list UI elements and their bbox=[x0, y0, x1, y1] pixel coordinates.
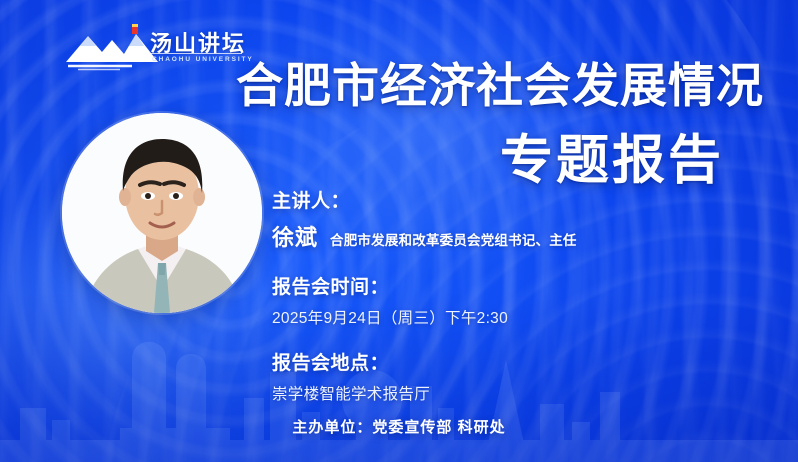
speaker-title: 合肥市发展和改革委员会党组书记、主任 bbox=[330, 229, 577, 249]
event-poster: 汤山讲坛 CHAOHU UNIVERSITY 合肥市经济社会发展情况 专题报告 bbox=[0, 0, 798, 462]
speaker-name: 徐斌 bbox=[272, 220, 318, 252]
poster-title-line-1: 合肥市经济社会发展情况 bbox=[236, 62, 764, 109]
logo-divider bbox=[150, 53, 242, 54]
speaker-row: 徐斌 合肥市发展和改革委员会党组书记、主任 bbox=[272, 220, 702, 252]
organizer-line: 主办单位：党委宣传部 科研处 bbox=[0, 416, 798, 437]
place-value: 崇学楼智能学术报告厅 bbox=[272, 382, 702, 404]
poster-title-line-2: 专题报告 bbox=[500, 134, 724, 187]
event-details: 主讲人： 徐斌 合肥市发展和改革委员会党组书记、主任 报告会时间： 2025年9… bbox=[272, 186, 702, 404]
place-label: 报告会地点： bbox=[272, 348, 702, 375]
brand-logo: 汤山讲坛 CHAOHU UNIVERSITY bbox=[62, 22, 242, 78]
speaker-portrait bbox=[62, 113, 262, 313]
speaker-label: 主讲人： bbox=[272, 186, 702, 213]
time-value: 2025年9月24日（周三）下午2:30 bbox=[272, 306, 702, 328]
mountain-logo-icon bbox=[62, 22, 162, 72]
portrait-illustration bbox=[62, 113, 262, 313]
time-label: 报告会时间： bbox=[272, 272, 702, 299]
